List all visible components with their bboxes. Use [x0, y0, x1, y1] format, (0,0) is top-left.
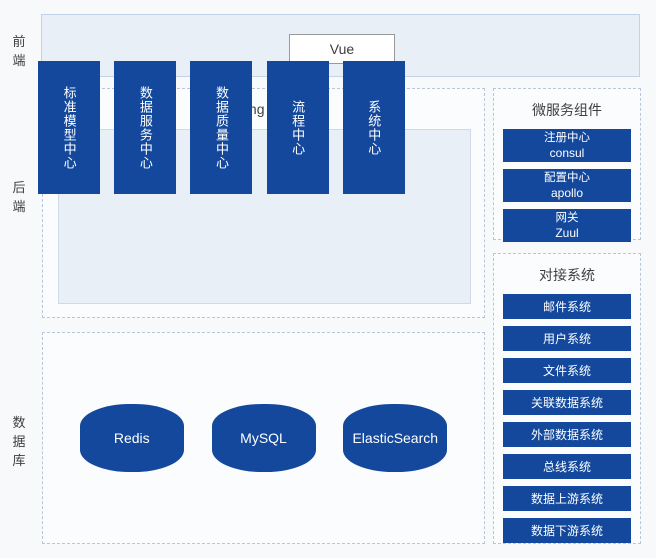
integration-node-label: 用户系统	[543, 330, 591, 347]
integration-node-label: 外部数据系统	[531, 426, 603, 443]
spring-cloud-service-list: 标准模型中心 数据服务中心 数据质量中心 流程中心 系统中心	[15, 40, 428, 215]
integration-node-related-data-system[interactable]: 关联数据系统	[503, 390, 631, 415]
service-node-label: 标准模型中心	[61, 86, 78, 170]
integration-node-label: 邮件系统	[543, 298, 591, 315]
integration-node-user-system[interactable]: 用户系统	[503, 326, 631, 351]
microservice-components-list: 注册中心 consul 配置中心 apollo 网关 Zuul	[494, 129, 640, 242]
database-node-elasticsearch[interactable]: ElasticSearch	[343, 404, 447, 472]
integration-node-label: 数据下游系统	[531, 522, 603, 539]
microservice-node-sublabel: apollo	[551, 186, 583, 201]
service-node-standard-model-center[interactable]: 标准模型中心	[38, 61, 100, 194]
service-node-label: 数据质量中心	[213, 86, 230, 170]
service-node-data-service-center[interactable]: 数据服务中心	[114, 61, 176, 194]
integration-systems-title: 对接系统	[494, 265, 640, 285]
microservice-node-label: 网关	[556, 211, 579, 226]
database-node-redis[interactable]: Redis	[80, 404, 184, 472]
microservice-node-sublabel: Zuul	[555, 226, 578, 241]
integration-systems-section: 对接系统 邮件系统 用户系统 文件系统 关联数据系统 外部数据系统 总线系统 数…	[493, 253, 641, 544]
integration-systems-list: 邮件系统 用户系统 文件系统 关联数据系统 外部数据系统 总线系统 数据上游系统…	[494, 294, 640, 543]
integration-node-bus-system[interactable]: 总线系统	[503, 454, 631, 479]
integration-node-downstream-data-system[interactable]: 数据下游系统	[503, 518, 631, 543]
integration-node-label: 关联数据系统	[531, 394, 603, 411]
microservice-node-gateway[interactable]: 网关 Zuul	[503, 209, 631, 242]
microservice-node-label: 注册中心	[544, 131, 590, 146]
microservice-components-section: 微服务组件 注册中心 consul 配置中心 apollo 网关 Zuul	[493, 88, 641, 240]
microservice-node-config[interactable]: 配置中心 apollo	[503, 169, 631, 202]
architecture-diagram: 前 端 后 端 数 据 库 Vue Spring Cloud 标准模型中心 数据…	[0, 0, 656, 558]
database-node-label: ElasticSearch	[352, 430, 438, 446]
service-node-label: 流程中心	[289, 100, 306, 156]
integration-node-file-system[interactable]: 文件系统	[503, 358, 631, 383]
integration-node-external-data-system[interactable]: 外部数据系统	[503, 422, 631, 447]
microservice-node-sublabel: consul	[550, 146, 585, 161]
integration-node-label: 总线系统	[543, 458, 591, 475]
integration-node-mail-system[interactable]: 邮件系统	[503, 294, 631, 319]
database-node-mysql[interactable]: MySQL	[212, 404, 316, 472]
service-node-process-center[interactable]: 流程中心	[267, 61, 329, 194]
integration-node-upstream-data-system[interactable]: 数据上游系统	[503, 486, 631, 511]
integration-node-label: 数据上游系统	[531, 490, 603, 507]
microservice-node-registry[interactable]: 注册中心 consul	[503, 129, 631, 162]
service-node-system-center[interactable]: 系统中心	[343, 61, 405, 194]
database-node-label: Redis	[114, 430, 150, 446]
database-node-label: MySQL	[240, 430, 287, 446]
tier-label-database: 数 据 库	[2, 413, 36, 470]
service-node-label: 数据服务中心	[137, 86, 154, 170]
integration-node-label: 文件系统	[543, 362, 591, 379]
microservice-node-label: 配置中心	[544, 171, 590, 186]
database-store-list: Redis MySQL ElasticSearch	[42, 332, 485, 544]
service-node-data-quality-center[interactable]: 数据质量中心	[190, 61, 252, 194]
service-node-label: 系统中心	[365, 100, 382, 156]
microservice-components-title: 微服务组件	[494, 100, 640, 120]
